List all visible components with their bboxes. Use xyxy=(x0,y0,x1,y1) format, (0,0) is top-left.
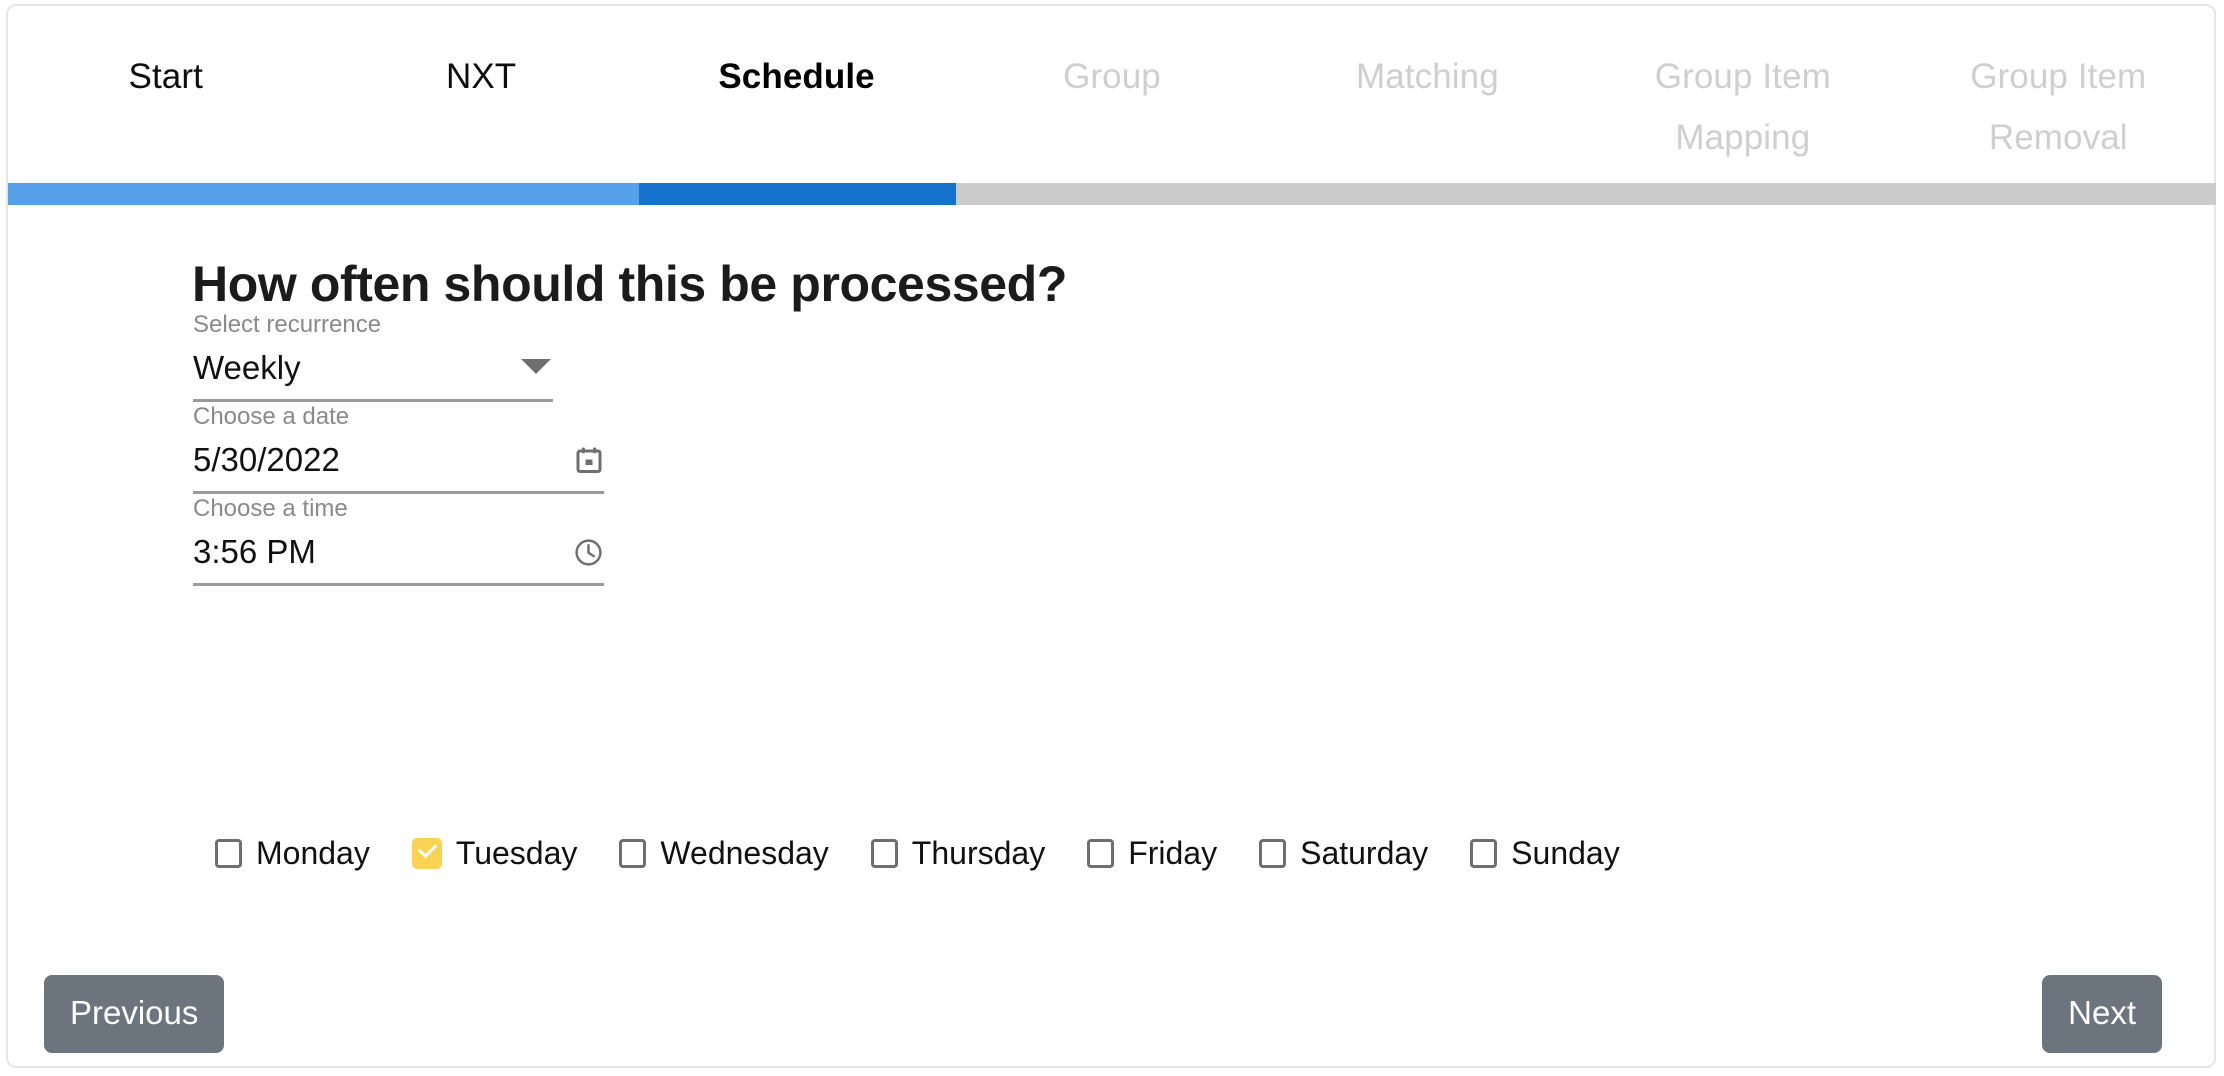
day-checkbox-monday[interactable]: Monday xyxy=(215,835,370,871)
recurrence-select[interactable]: Weekly xyxy=(193,348,553,402)
time-label: Choose a time xyxy=(193,495,604,523)
day-label: Friday xyxy=(1128,835,1217,871)
checkbox-box[interactable] xyxy=(1259,839,1286,868)
step-schedule[interactable]: Schedule xyxy=(639,6,954,107)
checkbox-box[interactable] xyxy=(215,839,242,868)
day-checkbox-thursday[interactable]: Thursday xyxy=(871,835,1045,871)
step-group-item-mapping: Group Item Mapping xyxy=(1585,6,1900,168)
day-label: Monday xyxy=(256,835,370,871)
day-label: Wednesday xyxy=(660,835,828,871)
date-input-row[interactable]: 5/30/2022 xyxy=(193,440,604,494)
step-label: Group Item Mapping xyxy=(1655,57,1831,157)
main-content: How often should this be processed? Sele… xyxy=(0,205,2224,865)
chevron-down-icon xyxy=(521,359,551,374)
page-title: How often should this be processed? xyxy=(192,255,1067,313)
step-label: Group Item Removal xyxy=(1970,57,2146,157)
time-field: Choose a time 3:56 PM xyxy=(193,495,604,586)
step-start[interactable]: Start xyxy=(8,6,323,107)
check-icon xyxy=(417,838,437,858)
step-group: Group xyxy=(954,6,1269,107)
step-label: Group xyxy=(1063,57,1161,96)
date-value: 5/30/2022 xyxy=(193,440,340,480)
recurrence-label: Select recurrence xyxy=(193,311,553,339)
day-label: Sunday xyxy=(1511,835,1620,871)
clock-icon[interactable] xyxy=(573,537,604,568)
next-button[interactable]: Next xyxy=(2042,975,2162,1053)
day-label: Thursday xyxy=(912,835,1045,871)
step-matching: Matching xyxy=(1270,6,1585,107)
time-input-row[interactable]: 3:56 PM xyxy=(193,532,604,586)
time-value: 3:56 PM xyxy=(193,532,316,572)
app-viewport: Start NXT Schedule Group Matching Group … xyxy=(0,0,2224,1076)
date-label: Choose a date xyxy=(193,403,604,431)
checkbox-box[interactable] xyxy=(619,839,646,868)
step-label: Start xyxy=(129,57,203,96)
day-checkbox-sunday[interactable]: Sunday xyxy=(1470,835,1620,871)
date-field: Choose a date 5/30/2022 xyxy=(193,403,604,494)
day-label: Tuesday xyxy=(456,835,578,871)
step-label: Matching xyxy=(1356,57,1499,96)
day-checkbox-wednesday[interactable]: Wednesday xyxy=(619,835,828,871)
progress-bar xyxy=(8,183,2216,205)
step-label: Schedule xyxy=(718,57,874,96)
step-nxt[interactable]: NXT xyxy=(323,6,638,107)
progress-current-segment xyxy=(639,183,956,205)
recurrence-value: Weekly xyxy=(193,348,301,388)
step-group-item-removal: Group Item Removal xyxy=(1901,6,2216,168)
day-checkbox-friday[interactable]: Friday xyxy=(1087,835,1217,871)
checkbox-box[interactable] xyxy=(1470,839,1497,868)
progress-completed-segment xyxy=(8,183,639,205)
day-checkbox-tuesday[interactable]: Tuesday xyxy=(412,835,578,871)
calendar-icon[interactable] xyxy=(574,445,604,476)
wizard-stepper: Start NXT Schedule Group Matching Group … xyxy=(8,6,2216,180)
day-checkbox-saturday[interactable]: Saturday xyxy=(1259,835,1428,871)
checkbox-box-checked[interactable] xyxy=(412,838,442,869)
checkbox-box[interactable] xyxy=(871,839,898,868)
recurrence-field: Select recurrence Weekly xyxy=(193,311,553,402)
day-label: Saturday xyxy=(1300,835,1428,871)
previous-button[interactable]: Previous xyxy=(44,975,224,1053)
step-label: NXT xyxy=(446,57,516,96)
checkbox-box[interactable] xyxy=(1087,839,1114,868)
days-of-week-group: Monday Tuesday Wednesday Thursday Friday… xyxy=(215,835,1620,871)
